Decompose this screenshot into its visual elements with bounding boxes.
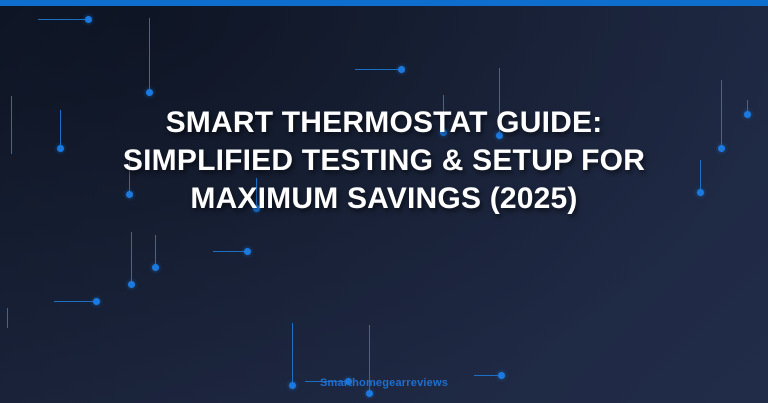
deco-line-dot-20-line bbox=[474, 375, 501, 376]
deco-line-dot-2-line bbox=[149, 18, 150, 92]
deco-line-dot-15 bbox=[213, 248, 251, 255]
deco-line-dot-19-dot bbox=[366, 390, 373, 397]
deco-line-dot-1-dot bbox=[85, 16, 92, 23]
deco-line-dot-3 bbox=[355, 66, 405, 73]
deco-line-dot-17-line bbox=[292, 323, 293, 385]
site-attribution: Smarthomegearreviews bbox=[0, 377, 768, 389]
deco-line-dot-14 bbox=[128, 232, 135, 288]
deco-line-dot-16 bbox=[54, 298, 100, 305]
deco-line-dot-14-line bbox=[131, 232, 132, 284]
top-accent-bar bbox=[0, 0, 768, 6]
promo-banner: Smart Thermostat Guide: Simplified Testi… bbox=[0, 0, 768, 403]
deco-line-dot-16-line bbox=[54, 301, 96, 302]
deco-line-dot-3-line bbox=[355, 69, 401, 70]
deco-line-dot-2 bbox=[146, 18, 153, 96]
deco-line-dot-1 bbox=[38, 16, 92, 23]
deco-line-dot-1-line bbox=[38, 19, 88, 20]
deco-line-dot-16-dot bbox=[93, 298, 100, 305]
page-title-line-2: Simplified Testing & Setup for bbox=[60, 142, 708, 180]
deco-line-21-line bbox=[7, 308, 8, 328]
deco-line-dot-15-dot bbox=[244, 248, 251, 255]
page-title-line-3: Maximum Savings (2025) bbox=[60, 180, 708, 218]
deco-line-dot-2-dot bbox=[146, 89, 153, 96]
deco-line-dot-14-dot bbox=[128, 281, 135, 288]
deco-line-dot-10-line bbox=[155, 235, 156, 267]
deco-line-dot-10-dot bbox=[152, 264, 159, 271]
page-title-line-1: Smart Thermostat Guide: bbox=[60, 104, 708, 142]
deco-line-21 bbox=[4, 308, 11, 328]
deco-line-dot-10 bbox=[152, 235, 159, 271]
page-title: Smart Thermostat Guide: Simplified Testi… bbox=[0, 104, 768, 218]
deco-line-dot-15-line bbox=[213, 251, 247, 252]
deco-line-dot-3-dot bbox=[398, 66, 405, 73]
